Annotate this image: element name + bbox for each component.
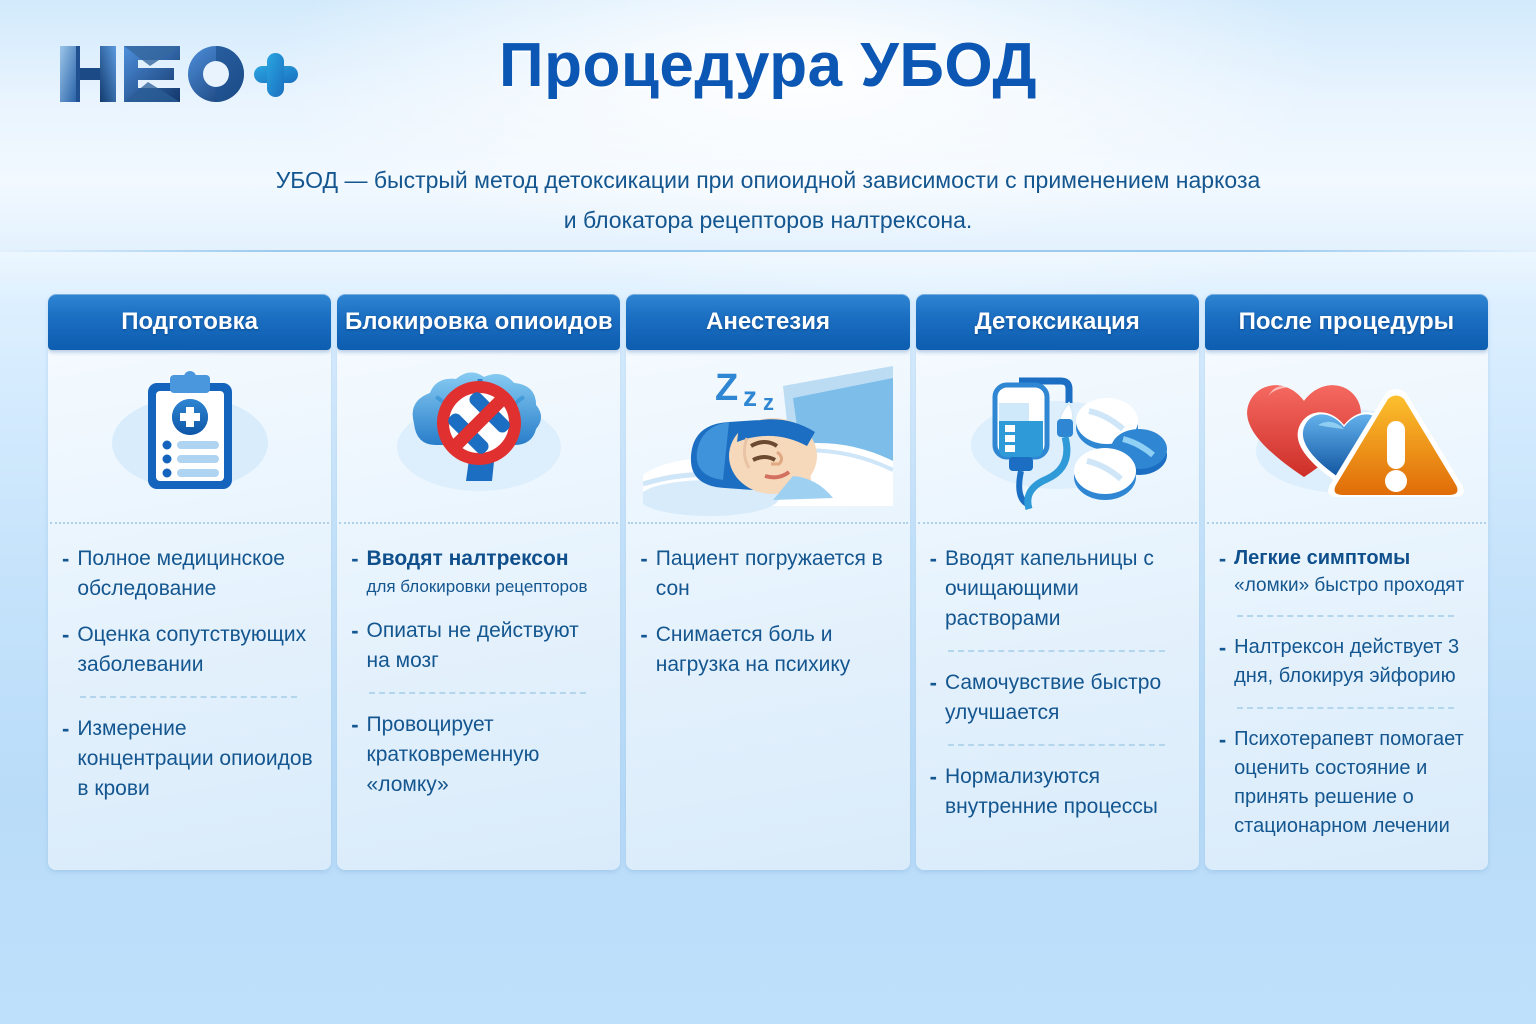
list-item: - Легкие симптомы «ломки» быстро проходя… (1219, 544, 1472, 599)
bullet-text: Самочувствие быстро улучшается (945, 668, 1183, 728)
column-header-2: Блокировка опиоидов (337, 294, 620, 350)
bullet-list-1: - Полное медицинское обследование - Оцен… (48, 524, 331, 870)
bullet-text: Провоцирует кратковременную «ломку» (367, 710, 605, 800)
column-header-3: Анестезия (626, 294, 909, 350)
page-title: Процедура УБОД (0, 30, 1536, 101)
bullet-text-wrap: Вводят налтрексон для блокировки рецепто… (367, 544, 588, 600)
bullet-separator (1237, 615, 1454, 617)
bullet-dash: - (1219, 633, 1234, 691)
brain-blocked-icon (337, 350, 620, 522)
bullet-list-5: - Легкие симптомы «ломки» быстро проходя… (1205, 524, 1488, 870)
icon-divider-5 (1207, 522, 1486, 524)
column-title-3: Анестезия (706, 308, 830, 336)
infographic-page: Процедура УБОД УБОД — быстрый метод дето… (0, 0, 1536, 1024)
bullet-separator (1237, 707, 1454, 709)
column-title-5: После процедуры (1239, 308, 1455, 336)
bullet-dash: - (351, 616, 366, 676)
bullet-text: Измерение концентрации опиоидов в крови (77, 714, 315, 804)
bullet-text: Вводят капельницы с очищающими растворам… (945, 544, 1183, 634)
list-item: - Опиаты не действуют на мозг (351, 616, 604, 676)
list-item: - Оценка сопутствующих заболевании (62, 620, 315, 680)
bullet-text: Оценка сопутствующих заболевании (77, 620, 315, 680)
bullet-separator (369, 692, 586, 694)
bullet-dash: - (930, 544, 945, 634)
bullet-list-2: - Вводят налтрексон для блокировки рецеп… (337, 524, 620, 870)
bullet-subtext: «ломки» быстро проходят (1234, 573, 1464, 599)
list-item: - Снимается боль и нагрузка на психику (640, 620, 893, 680)
list-item: - Вводят капельницы с очищающими раствор… (930, 544, 1183, 634)
iv-drip-pills-icon (916, 350, 1199, 522)
bullet-dash: - (930, 762, 945, 822)
column-anesteziya[interactable]: Анестезия (626, 294, 909, 870)
bullet-dash: - (1219, 544, 1234, 599)
process-columns: Подготовка (48, 294, 1488, 870)
bullet-dash: - (62, 544, 77, 604)
column-posle-protsedury[interactable]: После процедуры (1205, 294, 1488, 870)
hearts-warning-icon (1205, 350, 1488, 522)
bullet-list-4: - Вводят капельницы с очищающими раствор… (916, 524, 1199, 870)
list-item: - Психотерапевт помогает оценить состоян… (1219, 725, 1472, 841)
bullet-separator (948, 650, 1165, 652)
icon-divider-2 (339, 522, 618, 524)
list-item: - Полное медицинское обследование (62, 544, 315, 604)
list-item: - Пациент погружается в сон (640, 544, 893, 604)
bullet-dash: - (1219, 725, 1234, 841)
bullet-text: Нормализуются внутренние процессы (945, 762, 1183, 822)
column-detoksikatsiya[interactable]: Детоксикация (916, 294, 1199, 870)
column-header-1: Подготовка (48, 294, 331, 350)
bullet-text: Вводят налтрексон (367, 547, 569, 570)
subtitle-line-1: УБОД — быстрый метод детоксикации при оп… (268, 160, 1268, 200)
bullet-dash: - (930, 668, 945, 728)
list-item: - Измерение концентрации опиоидов в кров… (62, 714, 315, 804)
column-title-2: Блокировка опиоидов (345, 308, 613, 336)
bullet-text: Полное медицинское обследование (77, 544, 315, 604)
bullet-dash: - (62, 714, 77, 804)
svg-text:z: z (763, 390, 774, 415)
sleeping-patient-icon: Z z z (626, 350, 909, 522)
page-subtitle: УБОД — быстрый метод детоксикации при оп… (268, 160, 1268, 240)
bullet-text: Снимается боль и нагрузка на психику (656, 620, 894, 680)
sleep-zzz-label: Z (715, 367, 738, 409)
bullet-text-wrap: Легкие симптомы «ломки» быстро проходят (1234, 544, 1464, 599)
column-header-5: После процедуры (1205, 294, 1488, 350)
column-podgotovka[interactable]: Подготовка (48, 294, 331, 870)
column-title-4: Детоксикация (975, 308, 1140, 336)
list-item: - Нормализуются внутренние процессы (930, 762, 1183, 822)
icon-divider-4 (918, 522, 1197, 524)
list-item: - Провоцирует кратковременную «ломку» (351, 710, 604, 800)
list-item: - Самочувствие быстро улучшается (930, 668, 1183, 728)
icon-divider-3 (628, 522, 907, 524)
list-item: - Налтрексон действует 3 дня, блокируя э… (1219, 633, 1472, 691)
bullet-dash: - (640, 620, 655, 680)
bullet-separator (948, 744, 1165, 746)
subtitle-line-2: и блокатора рецепторов налтрексона. (268, 200, 1268, 240)
bullet-subtext: для блокировки рецепторов (367, 574, 588, 600)
bullet-text: Налтрексон действует 3 дня, блокируя эйф… (1234, 633, 1472, 691)
column-blokirovka-opioidov[interactable]: Блокировка опиоидов (337, 294, 620, 870)
bullet-text: Легкие симптомы (1234, 547, 1410, 569)
list-item: - Вводят налтрексон для блокировки рецеп… (351, 544, 604, 600)
bullet-dash: - (640, 544, 655, 604)
column-header-4: Детоксикация (916, 294, 1199, 350)
svg-text:z: z (743, 381, 757, 412)
bullet-text: Психотерапевт помогает оценить состояние… (1234, 725, 1472, 841)
bullet-list-3: - Пациент погружается в сон - Снимается … (626, 524, 909, 870)
column-title-1: Подготовка (121, 308, 258, 336)
bullet-text: Пациент погружается в сон (656, 544, 894, 604)
bullet-dash: - (351, 710, 366, 800)
bullet-separator (80, 696, 297, 698)
clipboard-medical-icon (48, 350, 331, 522)
bullet-dash: - (351, 544, 366, 600)
bullet-text: Опиаты не действуют на мозг (367, 616, 605, 676)
icon-divider-1 (50, 522, 329, 524)
bullet-dash: - (62, 620, 77, 680)
